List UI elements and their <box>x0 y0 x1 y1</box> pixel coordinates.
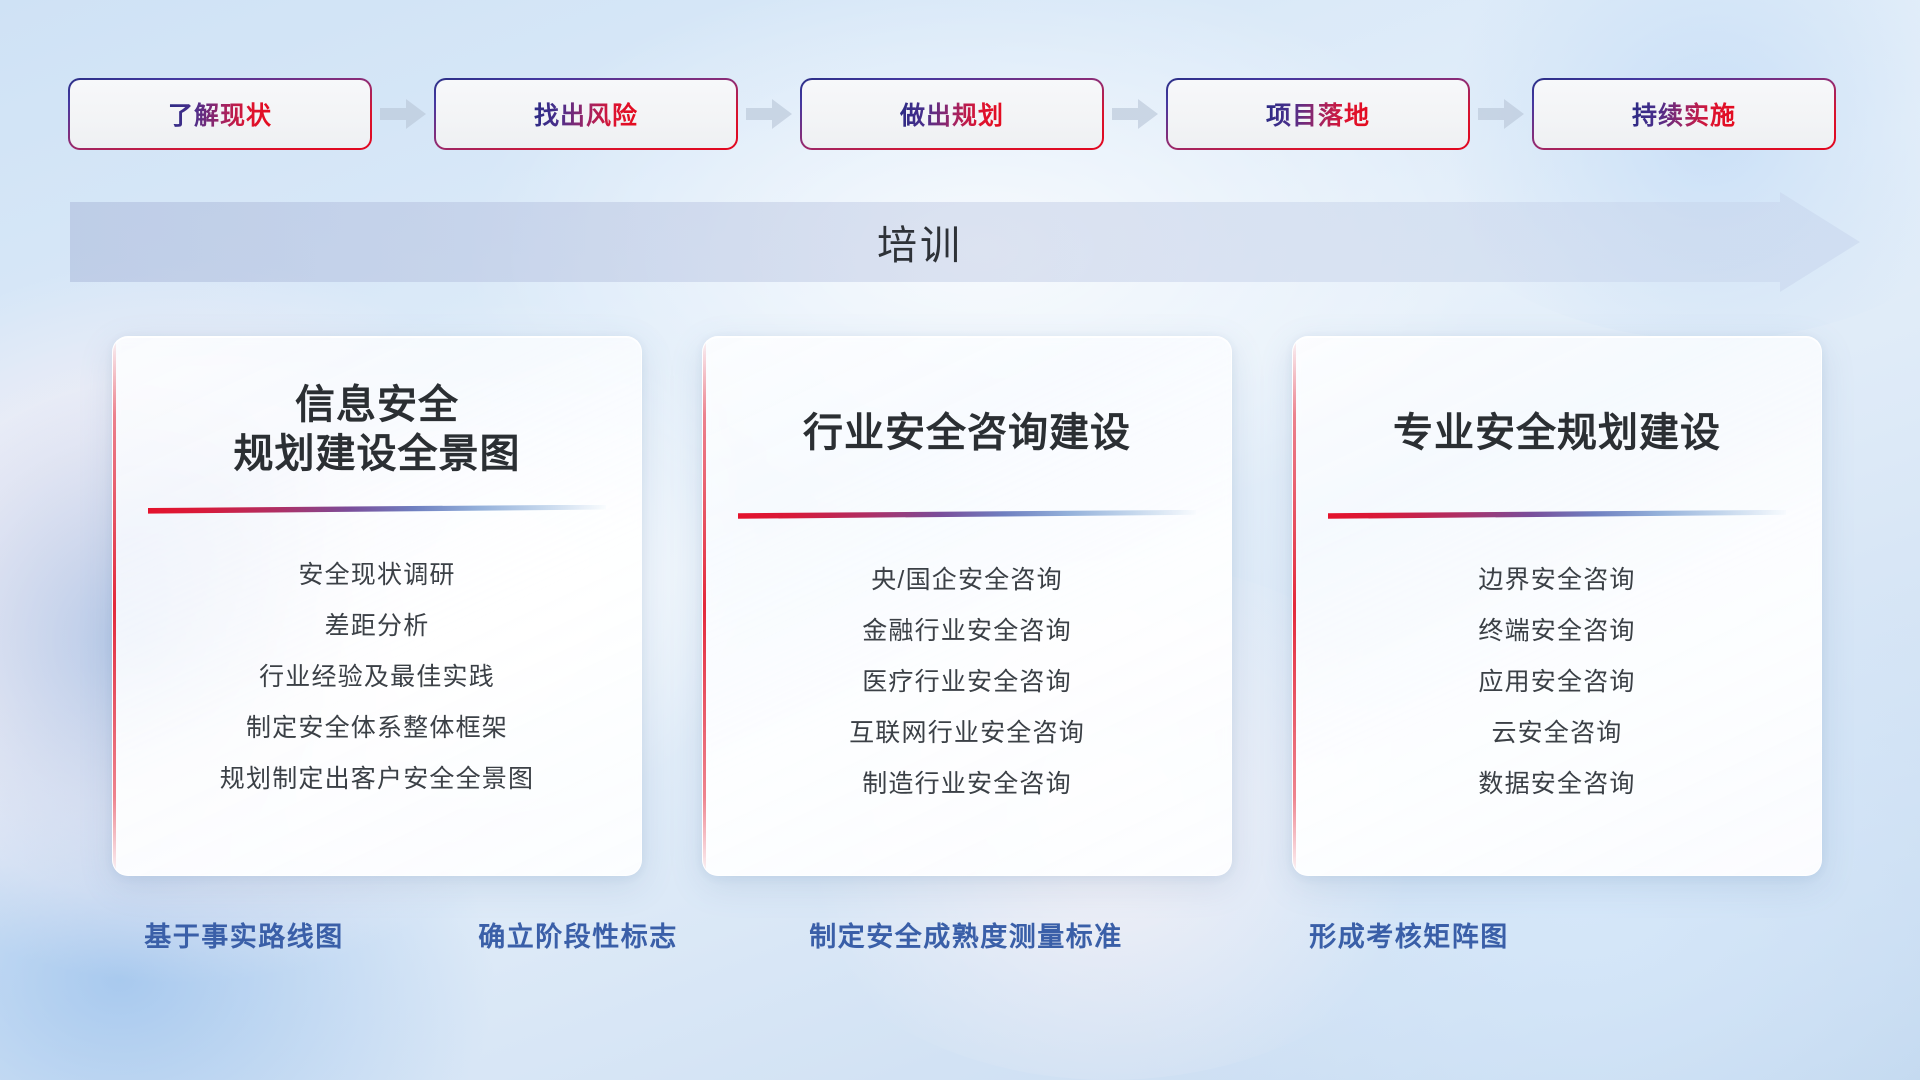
card-divider-3 <box>1328 510 1786 519</box>
card-list-1: 安全现状调研 差距分析 行业经验及最佳实践 制定安全体系整体框架 规划制定出客户… <box>113 550 641 805</box>
service-card-3[interactable]: 专业安全规划建设 边界安全咨询 终端安全咨询 应用安全咨询 云安全咨询 数据安全… <box>1292 336 1822 876</box>
card-list-3: 边界安全咨询 终端安全咨询 应用安全咨询 云安全咨询 数据安全咨询 <box>1293 555 1821 810</box>
step-arrow-icon-4 <box>1468 99 1534 129</box>
list-item: 制造行业安全咨询 <box>862 759 1072 810</box>
process-steps-row: 了解现状 找出风险 做出规划 项目落地 <box>70 78 1850 150</box>
step-label-1: 了解现状 <box>168 96 272 132</box>
infographic-canvas: 了解现状 找出风险 做出规划 项目落地 <box>0 0 1920 1080</box>
list-item: 互联网行业安全咨询 <box>849 708 1085 759</box>
bottom-label-4: 形成考核矩阵图 <box>1309 915 1509 954</box>
list-item: 差距分析 <box>325 601 430 652</box>
list-item: 医疗行业安全咨询 <box>862 657 1072 708</box>
step-arrow-icon-2 <box>736 99 802 129</box>
card-divider-bar-icon-1 <box>148 505 606 514</box>
list-item: 制定安全体系整体框架 <box>246 703 508 754</box>
list-item: 应用安全咨询 <box>1478 657 1635 708</box>
list-item: 终端安全咨询 <box>1478 606 1635 657</box>
list-item: 金融行业安全咨询 <box>862 606 1072 657</box>
bottom-label-2: 确立阶段性标志 <box>478 915 678 954</box>
step-box-2[interactable]: 找出风险 <box>436 80 736 148</box>
step-box-5[interactable]: 持续实施 <box>1534 80 1834 148</box>
training-arrow-band: 培训 <box>70 192 1860 292</box>
list-item: 行业经验及最佳实践 <box>259 652 495 703</box>
list-item: 央/国企安全咨询 <box>871 555 1063 606</box>
step-label-2: 找出风险 <box>534 96 638 132</box>
step-label-4: 项目落地 <box>1266 96 1370 132</box>
step-arrow-icon-3 <box>1102 99 1168 129</box>
step-arrow-icon-1 <box>370 99 436 129</box>
list-item: 云安全咨询 <box>1491 708 1622 759</box>
list-item: 安全现状调研 <box>298 550 455 601</box>
step-box-4[interactable]: 项目落地 <box>1168 80 1468 148</box>
list-item: 边界安全咨询 <box>1478 555 1635 606</box>
service-card-1[interactable]: 信息安全 规划建设全景图 安全现状调研 差距分析 行业经验及最佳实践 制定安全体… <box>112 336 642 876</box>
step-box-3[interactable]: 做出规划 <box>802 80 1102 148</box>
bottom-outcome-labels: 基于事实路线图 确立阶段性标志 制定安全成熟度测量标准 形成考核矩阵图 <box>0 915 1920 961</box>
card-divider-bar-icon-2 <box>738 510 1196 519</box>
card-title-1: 信息安全 规划建设全景图 <box>113 381 641 479</box>
bottom-label-1: 基于事实路线图 <box>144 915 344 954</box>
training-band-label: 培训 <box>70 192 1770 292</box>
list-item: 规划制定出客户安全全景图 <box>220 754 534 805</box>
card-list-2: 央/国企安全咨询 金融行业安全咨询 医疗行业安全咨询 互联网行业安全咨询 制造行… <box>703 555 1231 810</box>
card-title-2: 行业安全咨询建设 <box>703 409 1231 458</box>
card-title-3: 专业安全规划建设 <box>1293 409 1821 458</box>
bottom-label-3: 制定安全成熟度测量标准 <box>809 915 1123 954</box>
service-cards-row: 信息安全 规划建设全景图 安全现状调研 差距分析 行业经验及最佳实践 制定安全体… <box>112 336 1822 876</box>
step-label-5: 持续实施 <box>1632 96 1736 132</box>
step-box-1[interactable]: 了解现状 <box>70 80 370 148</box>
card-divider-2 <box>738 510 1196 519</box>
list-item: 数据安全咨询 <box>1478 759 1635 810</box>
step-label-3: 做出规划 <box>900 96 1004 132</box>
card-divider-bar-icon-3 <box>1328 510 1786 519</box>
service-card-2[interactable]: 行业安全咨询建设 央/国企安全咨询 金融行业安全咨询 医疗行业安全咨询 互联网行… <box>702 336 1232 876</box>
card-divider-1 <box>148 505 606 514</box>
